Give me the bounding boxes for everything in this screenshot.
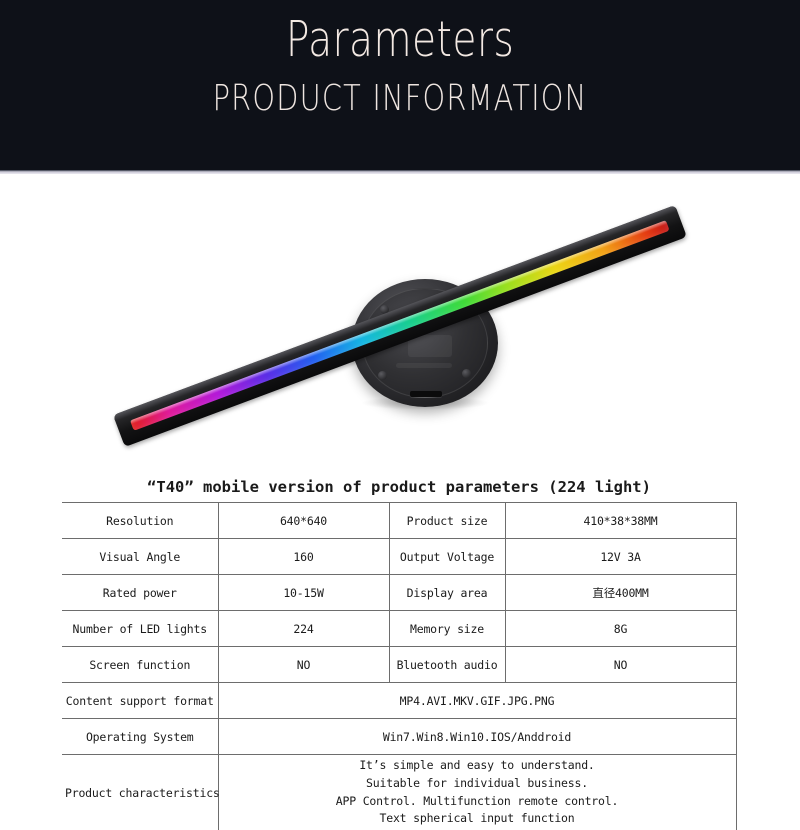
specifications-section: “T40” mobile version of product paramete… — [62, 478, 736, 830]
specifications-table: Resolution 640*640 Product size 410*38*3… — [62, 502, 737, 830]
table-row: Rated power 10-15W Display area 直径400MM — [62, 575, 736, 611]
characteristic-line: Suitable for individual business. — [222, 775, 733, 793]
characteristic-line: APP Control. Multifunction remote contro… — [222, 793, 733, 811]
spec-value: 12V 3A — [505, 539, 736, 575]
table-row: Resolution 640*640 Product size 410*38*3… — [62, 503, 736, 539]
spec-value: 640*640 — [218, 503, 389, 539]
spec-value: 410*38*38MM — [505, 503, 736, 539]
hub-screw-icon — [462, 369, 471, 378]
page-header-banner: Parameters PRODUCT INFORMATION — [0, 0, 800, 170]
spec-value: Win7.Win8.Win10.IOS/Anddroid — [218, 719, 736, 755]
table-row: Visual Angle 160 Output Voltage 12V 3A — [62, 539, 736, 575]
led-blade — [113, 205, 687, 447]
table-row: Product characteristics It’s simple and … — [62, 755, 736, 830]
spec-value: NO — [218, 647, 389, 683]
spec-label: Product size — [389, 503, 505, 539]
spec-label: Resolution — [62, 503, 218, 539]
product-image-stage — [0, 174, 800, 474]
hub-power-port — [410, 391, 442, 397]
spec-value: 直径400MM — [505, 575, 736, 611]
page-title: Parameters — [80, 14, 720, 65]
table-row: Number of LED lights 224 Memory size 8G — [62, 611, 736, 647]
spec-value: 224 — [218, 611, 389, 647]
spec-table-caption: “T40” mobile version of product paramete… — [62, 478, 736, 502]
spec-label: Operating System — [62, 719, 218, 755]
characteristic-line: It’s simple and easy to understand. — [222, 757, 733, 775]
characteristic-line: Text spherical input function — [222, 810, 733, 828]
page-subtitle: PRODUCT INFORMATION — [80, 80, 720, 118]
spec-label: Rated power — [62, 575, 218, 611]
spec-label: Number of LED lights — [62, 611, 218, 647]
spec-label: Memory size — [389, 611, 505, 647]
hub-screw-icon — [378, 371, 387, 380]
spec-label: Output Voltage — [389, 539, 505, 575]
spec-label: Screen function — [62, 647, 218, 683]
table-row: Operating System Win7.Win8.Win10.IOS/And… — [62, 719, 736, 755]
spec-value: 160 — [218, 539, 389, 575]
table-row: Content support format MP4.AVI.MKV.GIF.J… — [62, 683, 736, 719]
spec-label: Product characteristics — [62, 755, 218, 830]
table-row: Screen function NO Bluetooth audio NO — [62, 647, 736, 683]
spec-value: MP4.AVI.MKV.GIF.JPG.PNG — [218, 683, 736, 719]
hub-emboss-mark — [396, 363, 452, 368]
spec-label: Content support format — [62, 683, 218, 719]
spec-value: 8G — [505, 611, 736, 647]
spec-label: Visual Angle — [62, 539, 218, 575]
spec-value: 10-15W — [218, 575, 389, 611]
spec-value: NO — [505, 647, 736, 683]
spec-label: Bluetooth audio — [389, 647, 505, 683]
spec-value-multiline: It’s simple and easy to understand. Suit… — [218, 755, 736, 830]
holographic-led-fan-image — [0, 174, 800, 474]
spec-label: Display area — [389, 575, 505, 611]
